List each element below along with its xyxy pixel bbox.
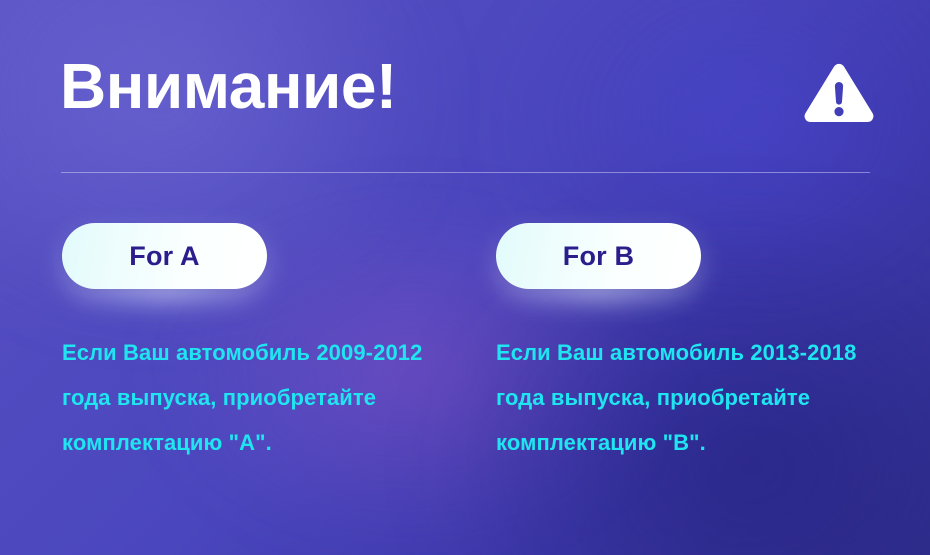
option-column-b: For B Если Ваш автомобиль 2013-2018 года… — [496, 223, 896, 465]
header-divider — [61, 172, 870, 173]
option-b-description: Если Ваш автомобиль 2013-2018 года выпус… — [496, 289, 876, 465]
pill-wrap-b: For B — [496, 223, 701, 289]
promo-banner: Внимание! For A Если Ваш автомобиль 2009… — [0, 0, 930, 555]
pill-wrap-a: For A — [62, 223, 267, 289]
for-a-button[interactable]: For A — [62, 223, 267, 289]
banner-content: Внимание! For A Если Ваш автомобиль 2009… — [0, 0, 930, 555]
warning-triangle-icon — [803, 63, 875, 125]
for-b-button[interactable]: For B — [496, 223, 701, 289]
page-title: Внимание! — [60, 53, 397, 120]
option-column-a: For A Если Ваш автомобиль 2009-2012 года… — [62, 223, 462, 465]
option-a-description: Если Ваш автомобиль 2009-2012 года выпус… — [62, 289, 442, 465]
